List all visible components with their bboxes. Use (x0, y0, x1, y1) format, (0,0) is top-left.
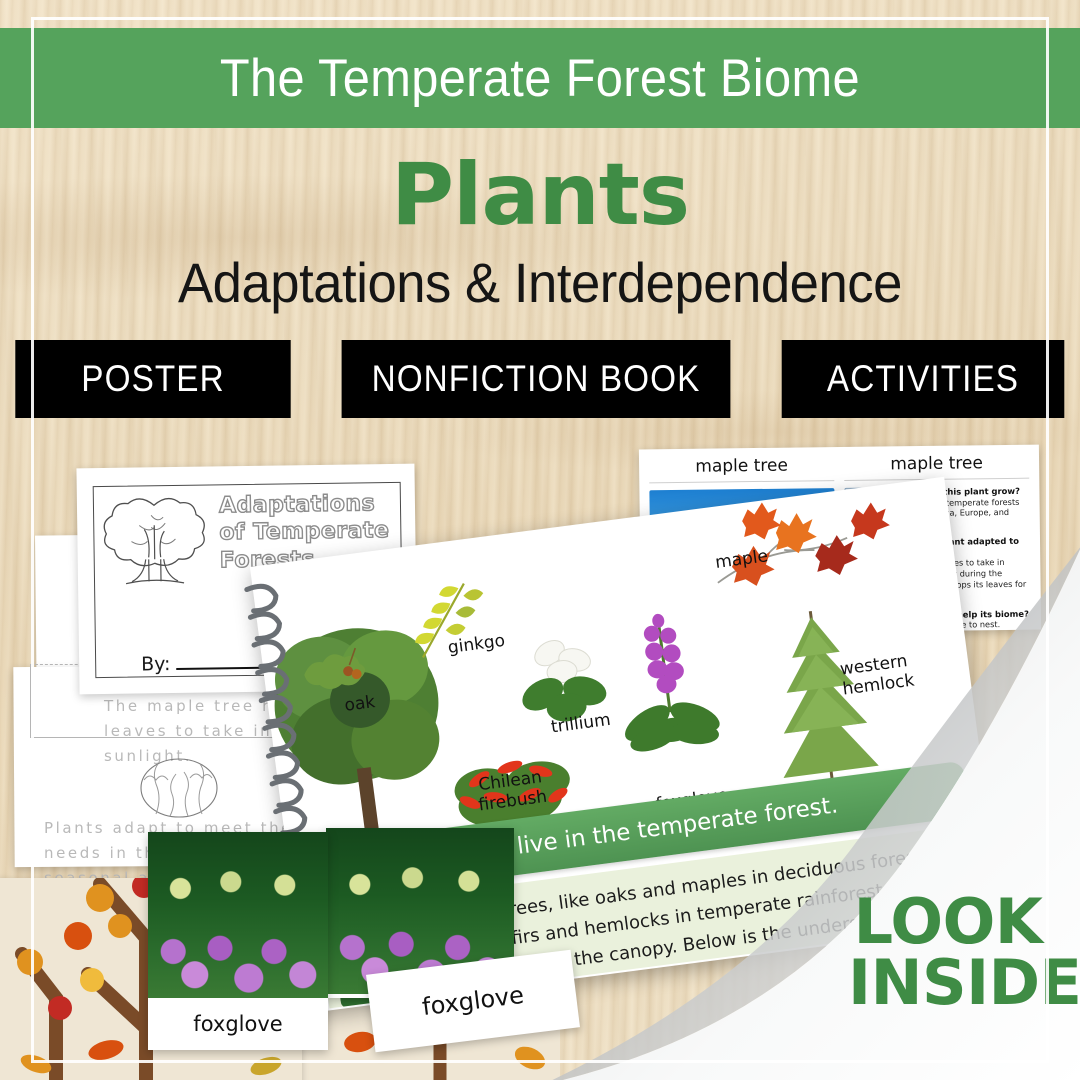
tab-nonfiction-book[interactable]: NONFICTION BOOK (342, 340, 731, 418)
category-tab-bar: POSTER NONFICTION BOOK ACTIVITIES (0, 340, 1080, 418)
look-inside-line-1: LOOK (848, 892, 1048, 953)
outline-tree-icon (95, 484, 215, 596)
picture-card-label-1: foxglove (148, 998, 328, 1050)
foxglove-photo-1 (148, 832, 328, 998)
maple-left-heading: maple tree (649, 455, 834, 483)
product-cover: The maple tree has wide leaves to take i… (0, 0, 1080, 1080)
look-inside-line-2: INSIDE (848, 953, 1048, 1014)
page-subtitle: Adaptations & Interdependence (32, 250, 1047, 315)
plant-label-oak: oak (343, 692, 376, 716)
header-banner: The Temperate Forest Biome (0, 28, 1080, 128)
picture-card-foxglove-1: foxglove (148, 832, 328, 1050)
look-inside-badge[interactable]: LOOK INSIDE (848, 892, 1048, 1014)
page-title: Plants (0, 150, 1080, 240)
title-block: Plants Adaptations & Interdependence (0, 150, 1080, 315)
tab-poster[interactable]: POSTER (15, 340, 290, 418)
tab-activities[interactable]: ACTIVITIES (782, 340, 1065, 418)
header-title: The Temperate Forest Biome (220, 48, 860, 109)
outline-earth-forest-icon (126, 758, 232, 818)
by-label: By: (141, 653, 171, 675)
